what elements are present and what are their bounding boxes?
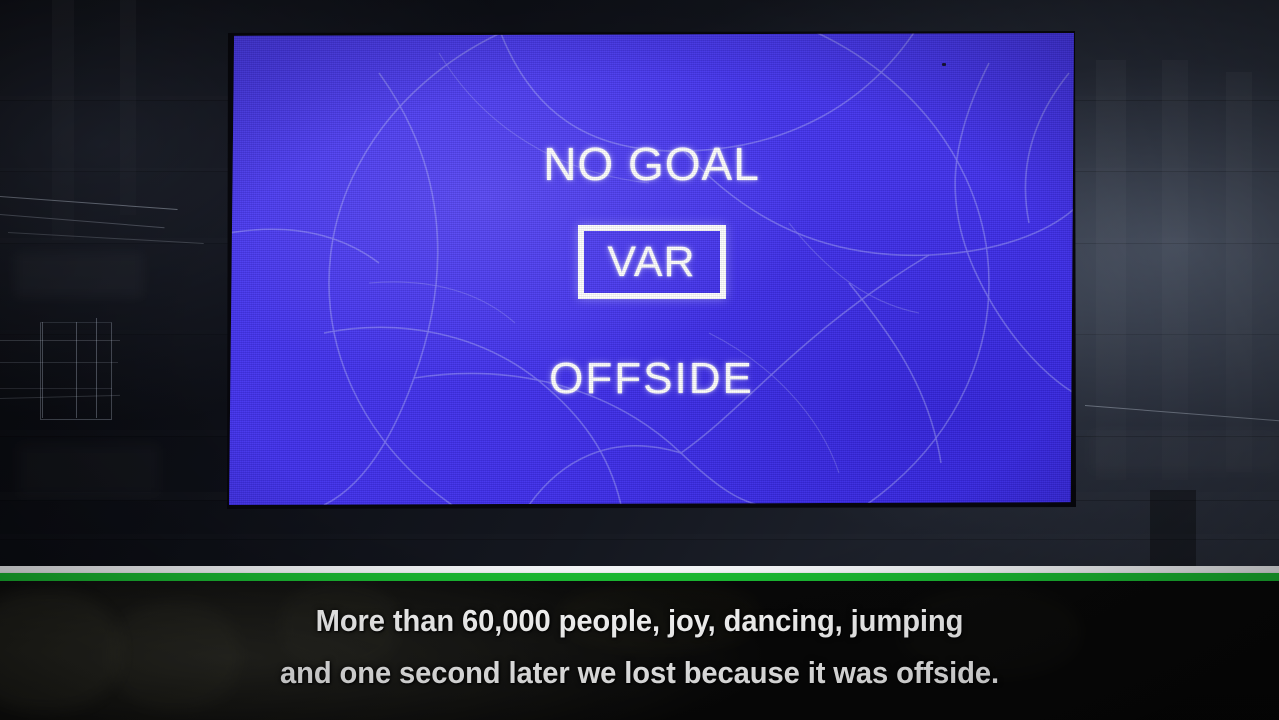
subtitle-line-1: More than 60,000 people, joy, dancing, j…	[38, 595, 1240, 647]
structural-pier	[52, 0, 74, 240]
railing-rail	[0, 340, 120, 341]
divider-green-line	[0, 573, 1279, 581]
railing-post	[42, 322, 43, 418]
subtitle-bar: More than 60,000 people, joy, dancing, j…	[0, 581, 1279, 720]
subtitle-text-block: More than 60,000 people, joy, dancing, j…	[0, 581, 1279, 699]
structural-pier	[120, 0, 136, 215]
stand-tier-band	[0, 534, 1279, 539]
video-frame: NO GOAL VAR OFFSIDE More than 60,000 peo…	[0, 0, 1279, 720]
var-badge: VAR	[578, 225, 726, 299]
offside-label: OFFSIDE	[549, 357, 754, 401]
railing-post	[76, 322, 77, 418]
subtitle-line-2: and one second later we lost because it …	[38, 647, 1240, 699]
lower-third-divider	[0, 566, 1279, 582]
var-decision-panel: NO GOAL VAR OFFSIDE	[229, 33, 1074, 505]
stand-surface-highlight	[1090, 432, 1279, 472]
structural-pier	[1150, 490, 1196, 570]
railing-rail	[0, 362, 118, 363]
stand-surface-highlight	[14, 252, 144, 298]
railing-post	[96, 318, 97, 418]
no-goal-label: NO GOAL	[543, 141, 760, 187]
screen-display: NO GOAL VAR OFFSIDE	[229, 33, 1074, 505]
var-label: VAR	[607, 241, 695, 284]
structural-pier	[1162, 60, 1188, 480]
structural-pier	[1226, 72, 1252, 472]
stadium-big-screen: NO GOAL VAR OFFSIDE	[227, 31, 1076, 509]
structural-pier	[1096, 60, 1126, 480]
divider-white-line	[0, 566, 1279, 573]
railing-rail	[0, 388, 112, 389]
stand-surface-highlight	[18, 444, 160, 496]
